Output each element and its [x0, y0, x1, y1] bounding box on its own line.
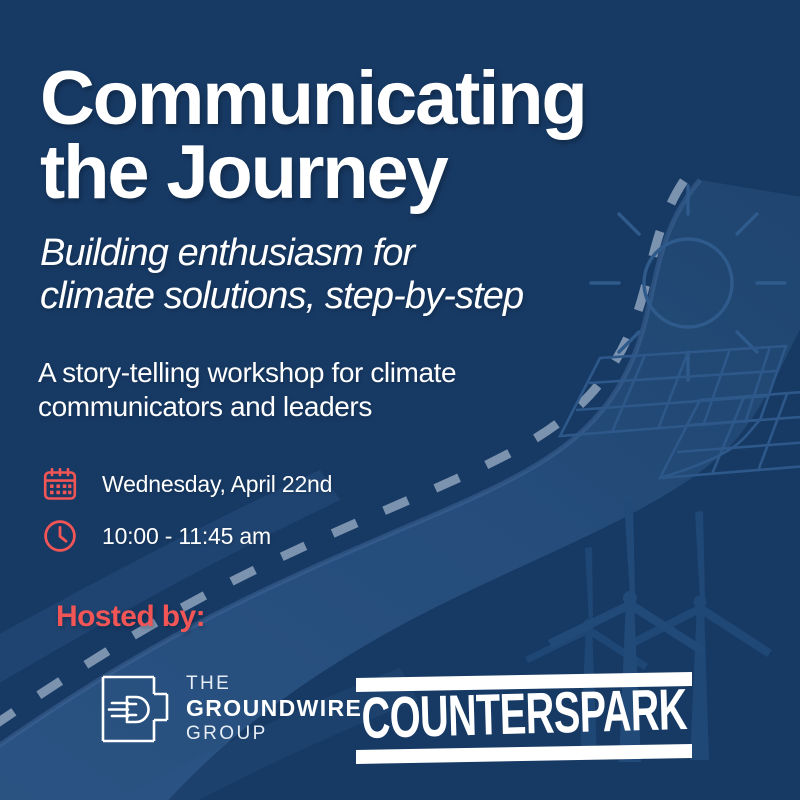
description-line-2: communicators and leaders: [38, 390, 658, 424]
hosted-by-label: Hosted by:: [56, 600, 205, 634]
calendar-icon: [40, 464, 80, 504]
subtitle-line-2: climate solutions, step-by-step: [40, 275, 700, 318]
clock-icon: [40, 516, 80, 556]
counterspark-wordmark: COUNTERSPARK: [361, 677, 689, 751]
subtitle-line-1: Building enthusiasm for: [40, 232, 700, 275]
description: A story-telling workshop for climate com…: [38, 356, 658, 423]
event-date-row: Wednesday, April 22nd: [40, 460, 332, 508]
groundwire-group-logo[interactable]: THE GROUNDWIRE GROUP: [96, 670, 362, 748]
counterspark-logo[interactable]: COUNTERSPARK: [348, 666, 700, 770]
event-poster: Communicating the Journey Building enthu…: [0, 0, 800, 800]
groundwire-line-group: GROUP: [186, 723, 362, 745]
description-line-1: A story-telling workshop for climate: [38, 356, 658, 390]
sponsor-logos: THE GROUNDWIRE GROUP COUNTERSPARK: [0, 660, 800, 780]
page-title: Communicating the Journey: [40, 62, 740, 211]
event-details: Wednesday, April 22nd 10:00 - 11:45 am: [40, 460, 332, 564]
subtitle: Building enthusiasm for climate solution…: [40, 232, 700, 317]
title-line-1: Communicating: [40, 62, 740, 136]
event-time-row: 10:00 - 11:45 am: [40, 512, 332, 560]
event-time-text: 10:00 - 11:45 am: [102, 523, 271, 550]
groundwire-line-the: THE: [186, 673, 362, 695]
title-line-2: the Journey: [40, 136, 740, 210]
plug-in-square-icon: [96, 670, 174, 748]
groundwire-line-name: GROUNDWIRE: [186, 695, 362, 722]
event-date-text: Wednesday, April 22nd: [102, 471, 332, 498]
